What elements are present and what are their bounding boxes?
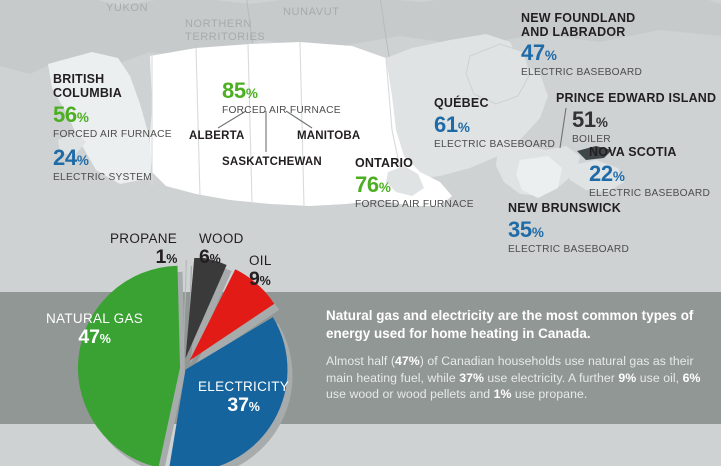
callout-newfoundland-value: 47% [521,41,642,67]
callout-new-brunswick: NEW BRUNSWICK 35% ELECTRIC BASEBOARD [508,202,629,256]
callout-ontario-value: 76% [355,173,474,199]
map-label-yukon: YUKON [106,2,148,15]
callout-pei-province: PRINCE EDWARD ISLAND [556,92,716,106]
summary-body: Almost half (47%) of Canadian households… [326,353,701,403]
callout-pei-fuel: BOILER [572,134,716,146]
value-text: 47 [521,40,545,65]
callout-prairies-value: 85% [222,79,341,105]
value-text: 9 [249,268,260,290]
callout-nova-scotia-province: NOVA SCOTIA [589,146,710,160]
value-text: 61 [434,112,458,137]
callout-nova-scotia-fuel: ELECTRIC BASEBOARD [589,188,710,200]
percent-symbol: % [246,86,258,101]
callout-british-columbia: BRITISH COLUMBIA 56% FORCED AIR FURNACE … [53,73,172,184]
callout-newfoundland-province: NEW FOUNDLAND AND LABRADOR [521,12,642,39]
pie-label-electricity-value: 37% [198,394,289,417]
map-label-northern-territories-line2: TERRITORIES [185,31,265,43]
percent-symbol: % [249,400,260,414]
value-text: 47 [78,326,99,348]
percent-symbol: % [596,115,608,130]
callout-prairies-fuel: FORCED AIR FURNACE [222,105,341,117]
pie-label-electricity: ELECTRICITY 37% [198,379,289,417]
callout-ontario: ONTARIO 76% FORCED AIR FURNACE [355,157,474,211]
map-label-northern-territories: NORTHERN TERRITORIES [185,18,265,44]
callout-newfoundland-line2: AND LABRADOR [521,25,625,39]
pie-label-natural-gas-value: 47% [46,326,143,349]
callout-prince-edward-island: PRINCE EDWARD ISLAND 51% BOILER [556,92,716,146]
percent-symbol: % [77,110,89,125]
callout-prairies: 85% FORCED AIR FURNACE [222,79,341,117]
callout-british-columbia-line1: BRITISH [53,72,104,86]
callout-british-columbia-value-2: 24% [53,146,172,172]
callout-british-columbia-line2: COLUMBIA [53,86,122,100]
callout-british-columbia-fuel-1: FORCED AIR FURNACE [53,129,172,141]
infographic-canvas: YUKON NORTHERN TERRITORIES NUNAVUT ALBER… [0,0,721,466]
callout-quebec-fuel: ELECTRIC BASEBOARD [434,139,555,151]
map-label-saskatchewan: SASKATCHEWAN [222,156,322,168]
value-text: 35 [508,217,532,242]
callout-ontario-province: ONTARIO [355,157,474,171]
value-text: 51 [572,107,596,132]
value-text: 22 [589,161,613,186]
summary-headline-line1: Natural gas and electricity are the most… [326,308,677,323]
pie-label-wood-name: WOOD [199,231,244,246]
percent-symbol: % [458,120,470,135]
percent-symbol: % [545,48,557,63]
callout-quebec-value: 61% [434,113,555,139]
value-text: 24 [53,145,77,170]
home-heating-pie-chart [55,258,345,466]
callout-nova-scotia-value: 22% [589,162,710,188]
callout-new-brunswick-value: 35% [508,218,629,244]
percent-symbol: % [100,332,111,346]
callout-new-brunswick-province: NEW BRUNSWICK [508,202,629,216]
callout-new-brunswick-fuel: ELECTRIC BASEBOARD [508,244,629,256]
value-text: 6 [199,246,210,268]
map-label-manitoba: MANITOBA [297,130,360,142]
pie-label-oil-value: 9% [249,268,272,291]
pie-label-electricity-name: ELECTRICITY [198,379,289,394]
pie-label-propane-name: PROPANE [110,231,177,246]
pie-label-wood-value: 6% [199,246,244,269]
percent-symbol: % [379,180,391,195]
percent-symbol: % [260,274,271,288]
pie-label-oil-name: OIL [249,253,272,268]
callout-ontario-fuel: FORCED AIR FURNACE [355,199,474,211]
callout-newfoundland-fuel: ELECTRIC BASEBOARD [521,67,642,79]
pie-label-oil: OIL 9% [249,253,272,291]
pie-label-natural-gas: NATURAL GAS 47% [46,311,143,349]
map-label-northern-territories-line1: NORTHERN [185,18,252,30]
map-label-alberta: ALBERTA [189,130,245,142]
callout-quebec: QUÉBEC 61% ELECTRIC BASEBOARD [434,97,555,151]
percent-symbol: % [210,252,221,266]
value-text: 56 [53,102,77,127]
percent-symbol: % [166,252,177,266]
value-text: 37 [227,394,248,416]
map-label-nunavut: NUNAVUT [283,6,340,19]
summary-panel: Natural gas and electricity are the most… [326,307,701,403]
callout-british-columbia-fuel-2: ELECTRIC SYSTEM [53,172,172,184]
callout-pei-value: 51% [572,108,716,134]
callout-nova-scotia: NOVA SCOTIA 22% ELECTRIC BASEBOARD [589,146,710,200]
percent-symbol: % [77,153,89,168]
value-text: 1 [156,246,167,268]
pie-slice-natural-gas[interactable] [78,266,180,466]
value-text: 85 [222,78,246,103]
pie-label-propane-value: 1% [110,246,177,269]
callout-british-columbia-province: BRITISH COLUMBIA [53,73,172,100]
summary-headline: Natural gas and electricity are the most… [326,307,701,342]
callout-quebec-province: QUÉBEC [434,97,555,111]
callout-newfoundland-line1: NEW FOUNDLAND [521,11,635,25]
percent-symbol: % [532,225,544,240]
callout-newfoundland-and-labrador: NEW FOUNDLAND AND LABRADOR 47% ELECTRIC … [521,12,642,79]
pie-label-wood: WOOD 6% [199,231,244,269]
percent-symbol: % [613,169,625,184]
callout-british-columbia-value-1: 56% [53,103,172,129]
value-text: 76 [355,172,379,197]
pie-label-natural-gas-name: NATURAL GAS [46,311,143,326]
pie-label-propane: PROPANE 1% [110,231,177,269]
